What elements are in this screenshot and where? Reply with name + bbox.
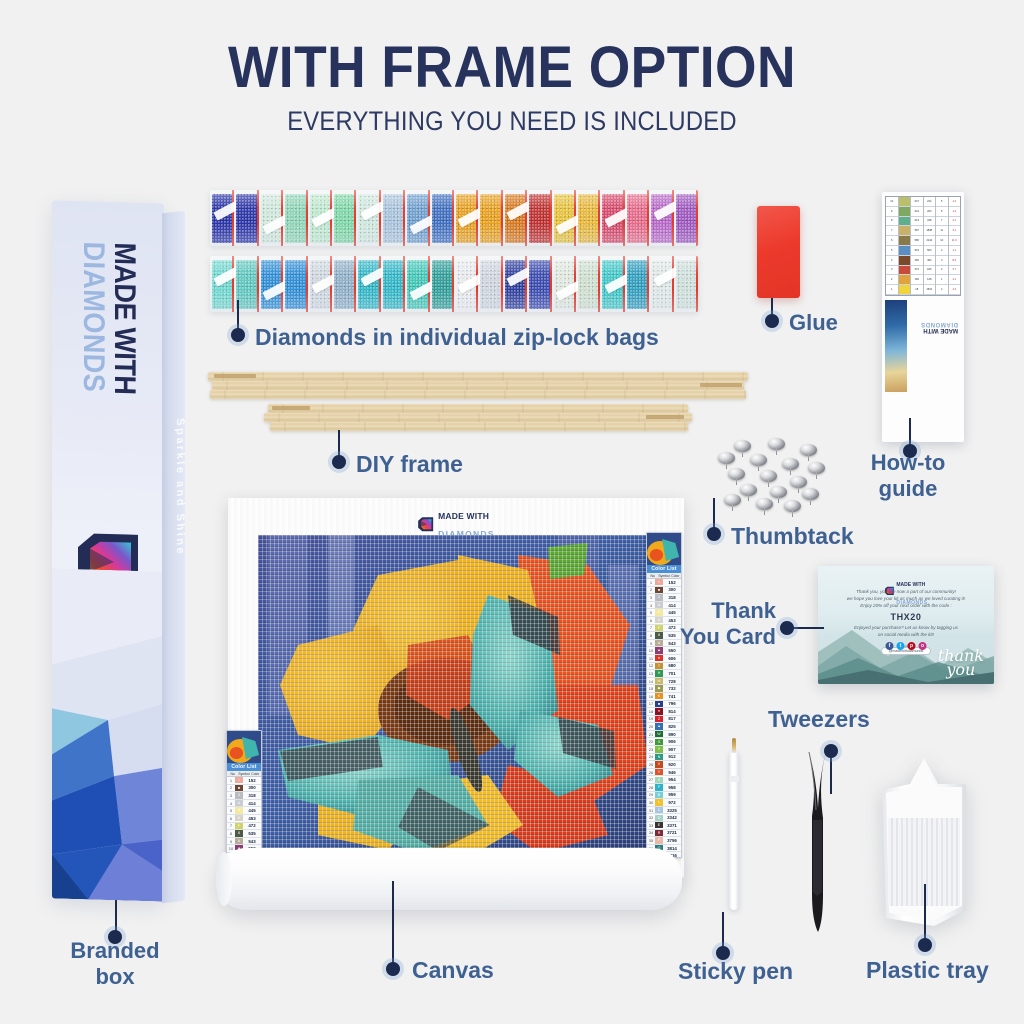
guide-color-table: 10987654321 6476446135875805194503721661… bbox=[885, 196, 961, 296]
color-row-swatch: ▲ bbox=[655, 647, 663, 653]
callout-diy-frame: DIY frame bbox=[356, 451, 463, 478]
color-row-code: 732 bbox=[663, 686, 681, 691]
color-row-code: 300 bbox=[663, 587, 681, 592]
bag-label bbox=[311, 273, 338, 293]
box-brand-line2: DIAMONDS bbox=[77, 241, 109, 530]
diamond-beads bbox=[456, 194, 476, 243]
color-row-swatch: C bbox=[655, 807, 663, 813]
color-row-code: 3342 bbox=[663, 815, 681, 820]
col-no: No bbox=[647, 573, 658, 578]
callout-glue: Glue bbox=[789, 310, 838, 336]
diamond-beads bbox=[407, 260, 427, 309]
color-row-swatch: A bbox=[235, 800, 243, 806]
color-row-index: 11 bbox=[647, 656, 655, 661]
color-row-code: 741 bbox=[663, 694, 681, 699]
color-row-index: 1 bbox=[647, 580, 655, 585]
ziplock-bag bbox=[527, 256, 551, 312]
color-row-code: 912 bbox=[663, 754, 681, 759]
color-row-index: 24 bbox=[647, 754, 655, 759]
color-row-swatch: R bbox=[655, 830, 663, 836]
color-row-swatch: I bbox=[655, 579, 663, 585]
diamond-beads bbox=[407, 194, 427, 243]
callout-branded-box: Branded box bbox=[55, 938, 175, 989]
callout-tweezers: Tweezers bbox=[768, 706, 870, 733]
diamond-beads bbox=[456, 260, 476, 309]
ziplock-bag bbox=[405, 256, 429, 312]
diamond-beads bbox=[310, 260, 330, 309]
guide-cover-photo bbox=[885, 300, 907, 392]
diamond-beads bbox=[358, 194, 378, 243]
diamond-beads bbox=[310, 194, 330, 243]
ziplock-bag bbox=[625, 256, 649, 312]
ziplock-bag bbox=[332, 256, 356, 312]
color-row-code: 680 bbox=[663, 663, 681, 668]
color-row-swatch: ● bbox=[655, 655, 663, 661]
ziplock-bag bbox=[430, 256, 454, 312]
bag-seal-strip bbox=[452, 256, 454, 312]
ziplock-bag bbox=[210, 256, 234, 312]
color-row-index: 15 bbox=[647, 686, 655, 691]
color-list-title-right: Color List bbox=[647, 565, 681, 573]
color-row-swatch: 8 bbox=[655, 632, 663, 638]
instagram-icon[interactable]: o bbox=[919, 642, 927, 650]
color-row-code: 814 bbox=[663, 709, 681, 714]
diamond-beads bbox=[432, 260, 452, 309]
bag-seal-strip bbox=[672, 190, 674, 246]
diamond-beads bbox=[236, 260, 256, 309]
color-row-index: 12 bbox=[647, 663, 655, 668]
color-row-code: 3721 bbox=[663, 830, 681, 835]
color-row-index: 19 bbox=[647, 716, 655, 721]
canvas-artwork bbox=[258, 535, 654, 856]
diamond-beads bbox=[578, 194, 598, 243]
infographic-canvas: WITH FRAME OPTION EVERYTHING YOU NEED IS… bbox=[0, 0, 1024, 1024]
bag-seal-strip bbox=[623, 256, 625, 312]
tweezers-product bbox=[795, 744, 841, 934]
thumbtack-product bbox=[712, 438, 832, 516]
ziplock-bag bbox=[674, 256, 698, 312]
diamond-beads bbox=[602, 194, 622, 243]
color-list-row: 31C3325 bbox=[647, 807, 681, 815]
lead-line-canvas bbox=[392, 881, 394, 963]
color-row-code: 535 bbox=[243, 831, 261, 836]
color-row-swatch: F bbox=[655, 784, 663, 790]
bag-label bbox=[653, 266, 680, 286]
diamond-beads bbox=[554, 260, 574, 309]
bag-seal-strip bbox=[232, 190, 234, 246]
facebook-icon[interactable]: f bbox=[886, 642, 894, 650]
color-list-row: 1I152 bbox=[227, 777, 261, 785]
color-row-index: 32 bbox=[647, 815, 655, 820]
color-row-index: 2 bbox=[227, 785, 235, 790]
color-row-index: 5 bbox=[647, 610, 655, 615]
callout-dot-diy-frame bbox=[332, 455, 346, 469]
diamond-beads bbox=[285, 260, 305, 309]
diamond-beads bbox=[212, 194, 232, 243]
color-list-row: 20▲825 bbox=[647, 723, 681, 731]
bag-seal-strip bbox=[550, 256, 552, 312]
bag-label bbox=[409, 214, 436, 234]
ziplock-bag bbox=[503, 256, 527, 312]
diamond-beads bbox=[529, 260, 549, 309]
color-row-swatch: F bbox=[235, 823, 243, 829]
color-row-swatch: F bbox=[655, 625, 663, 631]
bag-seal-strip bbox=[379, 256, 381, 312]
color-row-index: 26 bbox=[647, 770, 655, 775]
color-list-row: 35P3756 bbox=[647, 837, 681, 845]
ziplock-bag bbox=[234, 190, 258, 246]
bag-seal-strip bbox=[354, 256, 356, 312]
color-row-swatch: 3 bbox=[655, 594, 663, 600]
color-row-index: 1 bbox=[227, 778, 235, 783]
diamond-beads bbox=[212, 260, 232, 309]
bag-seal-strip bbox=[696, 256, 698, 312]
col-symbol-left: Symbol bbox=[238, 771, 249, 776]
diamond-beads bbox=[334, 260, 354, 309]
ziplock-bag bbox=[576, 190, 600, 246]
thank-you-card-product: MADE WITH DIAMONDS Thank you, you are no… bbox=[818, 566, 994, 684]
bag-seal-strip bbox=[598, 190, 600, 246]
callout-howto-guide: How-to guide bbox=[858, 450, 958, 501]
bag-label bbox=[360, 266, 387, 286]
color-row-code: 920 bbox=[663, 762, 681, 767]
card-line-5: on social media with the kit! bbox=[828, 631, 984, 638]
color-row-index: 21 bbox=[647, 732, 655, 737]
color-row-code: 3371 bbox=[663, 823, 681, 828]
color-list-row: 13H701 bbox=[647, 670, 681, 678]
color-row-code: 959 bbox=[663, 792, 681, 797]
glue-product bbox=[757, 206, 800, 298]
bag-seal-strip bbox=[452, 190, 454, 246]
color-row-swatch: ■ bbox=[655, 701, 663, 707]
ziplock-bag-row-top bbox=[210, 190, 698, 246]
twitter-icon[interactable]: t bbox=[897, 642, 905, 650]
color-row-swatch: T bbox=[655, 663, 663, 669]
callout-zip-bags: Diamonds in individual zip-lock bags bbox=[255, 324, 659, 351]
color-list-row: 1I152 bbox=[647, 579, 681, 587]
color-row-code: 796 bbox=[663, 701, 681, 706]
color-list-row: 2■300 bbox=[227, 785, 261, 793]
color-row-code: 318 bbox=[243, 793, 261, 798]
color-row-code: 445 bbox=[243, 808, 261, 813]
bag-seal-strip bbox=[232, 256, 234, 312]
pinterest-icon[interactable]: p bbox=[908, 642, 916, 650]
lead-line-branded-box bbox=[115, 900, 117, 934]
ziplock-bag bbox=[600, 190, 624, 246]
ziplock-bag bbox=[283, 256, 307, 312]
color-list-row: 33E3371 bbox=[647, 822, 681, 830]
callout-thumbtack: Thumbtack bbox=[731, 523, 854, 550]
bag-seal-strip bbox=[281, 256, 283, 312]
diamond-beads bbox=[505, 194, 525, 243]
color-list-row: 19Z817 bbox=[647, 716, 681, 724]
box-brand-line1: MADE WITH bbox=[109, 242, 139, 531]
lead-line-thumbtack bbox=[713, 498, 715, 530]
ziplock-bag bbox=[356, 190, 380, 246]
color-row-index: 8 bbox=[647, 633, 655, 638]
color-row-index: 8 bbox=[227, 831, 235, 836]
ziplock-bag bbox=[674, 190, 698, 246]
color-list-right: Color List No Symbol Color 1I1522■300333… bbox=[646, 532, 682, 858]
diamond-beads bbox=[285, 194, 305, 243]
col-color-left: Color bbox=[250, 771, 261, 776]
bag-seal-strip bbox=[257, 190, 259, 246]
bag-seal-strip bbox=[330, 256, 332, 312]
ziplock-bag bbox=[381, 256, 405, 312]
lead-line-diy-frame bbox=[338, 430, 340, 458]
bag-seal-strip bbox=[647, 256, 649, 312]
ziplock-bag bbox=[283, 190, 307, 246]
bag-seal-strip bbox=[574, 190, 576, 246]
diamond-beads bbox=[554, 194, 574, 243]
color-row-index: 3 bbox=[647, 595, 655, 600]
color-row-swatch: P bbox=[655, 837, 663, 843]
diy-frame-product bbox=[208, 372, 748, 450]
color-row-swatch: ■ bbox=[235, 785, 243, 791]
color-list-row: 17■796 bbox=[647, 701, 681, 709]
ziplock-bag bbox=[649, 190, 673, 246]
color-row-swatch: Y bbox=[655, 769, 663, 775]
bag-label bbox=[555, 280, 582, 300]
color-row-index: 18 bbox=[647, 709, 655, 714]
color-row-index: 5 bbox=[227, 808, 235, 813]
bag-seal-strip bbox=[306, 190, 308, 246]
color-row-index: 34 bbox=[647, 830, 655, 835]
color-row-index: 3 bbox=[227, 793, 235, 798]
bag-seal-strip bbox=[623, 190, 625, 246]
howto-guide-product: 10987654321 6476446135875805194503721661… bbox=[882, 192, 964, 442]
bag-label bbox=[311, 207, 338, 227]
color-list-row: 26Y946 bbox=[647, 769, 681, 777]
color-list-row: 28F958 bbox=[647, 784, 681, 792]
ziplock-bag bbox=[454, 256, 478, 312]
color-row-swatch: ■ bbox=[655, 587, 663, 593]
callout-plastic-tray: Plastic tray bbox=[866, 957, 989, 984]
card-line-3: Enjoy 20% off your next order with the c… bbox=[828, 602, 984, 609]
color-row-code: 3756 bbox=[663, 838, 681, 843]
bag-label bbox=[409, 280, 436, 300]
diamond-beads bbox=[505, 260, 525, 309]
ziplock-bag bbox=[478, 256, 502, 312]
bag-label bbox=[604, 273, 631, 293]
color-row-code: 954 bbox=[663, 777, 681, 782]
diamond-beads bbox=[480, 194, 500, 243]
guide-logo-line1: MADE WITH bbox=[912, 327, 958, 333]
color-list-rows-left: 1I1522■300333184A4145S445664537F47288535… bbox=[227, 777, 261, 853]
color-row-swatch: A bbox=[655, 640, 663, 646]
diamond-beads bbox=[358, 260, 378, 309]
color-list-row: 7F472 bbox=[227, 823, 261, 831]
page-title: WITH FRAME OPTION bbox=[41, 34, 983, 101]
color-list-row: 9A543 bbox=[227, 838, 261, 846]
ziplock-bag bbox=[332, 190, 356, 246]
color-row-index: 14 bbox=[647, 679, 655, 684]
bag-seal-strip bbox=[525, 190, 527, 246]
ziplock-bag bbox=[430, 190, 454, 246]
color-row-swatch: S bbox=[655, 777, 663, 783]
box-tagline: Sparkle and Shine bbox=[174, 406, 186, 567]
color-row-swatch: X bbox=[655, 761, 663, 767]
color-row-code: 906 bbox=[663, 739, 681, 744]
ziplock-bag bbox=[356, 256, 380, 312]
color-row-index: 17 bbox=[647, 701, 655, 706]
card-script-line2: you bbox=[946, 660, 975, 679]
color-row-swatch: 8 bbox=[235, 830, 243, 836]
color-row-index: 33 bbox=[647, 823, 655, 828]
callout-sticky-pen: Sticky pen bbox=[678, 958, 793, 985]
color-row-code: 3814 bbox=[663, 846, 681, 851]
ziplock-bag bbox=[503, 190, 527, 246]
bag-seal-strip bbox=[403, 256, 405, 312]
callout-canvas: Canvas bbox=[412, 957, 494, 984]
card-thank-you-script: thank you bbox=[938, 649, 984, 678]
bag-label bbox=[458, 207, 485, 227]
diamond-beads bbox=[651, 194, 671, 243]
color-row-swatch: W bbox=[655, 731, 663, 737]
color-row-index: 13 bbox=[647, 671, 655, 676]
bag-label bbox=[507, 200, 534, 220]
bag-seal-strip bbox=[598, 256, 600, 312]
page-subtitle: EVERYTHING YOU NEED IS INCLUDED bbox=[61, 106, 962, 137]
color-row-swatch: A bbox=[235, 838, 243, 844]
color-row-code: 472 bbox=[243, 823, 261, 828]
color-list-row: 11●606 bbox=[647, 655, 681, 663]
box-front-face: MADE WITH DIAMONDS bbox=[52, 200, 164, 901]
bag-seal-strip bbox=[672, 256, 674, 312]
bag-label bbox=[360, 200, 387, 220]
color-row-code: 414 bbox=[243, 801, 261, 806]
color-row-code: 3325 bbox=[663, 808, 681, 813]
bag-seal-strip bbox=[428, 190, 430, 246]
color-list-row: 32D3342 bbox=[647, 814, 681, 822]
color-row-swatch: 6 bbox=[655, 617, 663, 623]
col-color: Color bbox=[670, 573, 681, 578]
ziplock-bag bbox=[576, 256, 600, 312]
bag-seal-strip bbox=[501, 256, 503, 312]
color-list-row: 22G906 bbox=[647, 738, 681, 746]
diamond-beads bbox=[383, 260, 403, 309]
card-discount-code: THX20 bbox=[828, 612, 984, 622]
color-row-swatch: B bbox=[655, 792, 663, 798]
color-row-swatch: 3 bbox=[235, 792, 243, 798]
color-row-index: 10 bbox=[647, 648, 655, 653]
color-row-swatch: 6 bbox=[235, 815, 243, 821]
diamond-beads bbox=[578, 260, 598, 309]
bag-seal-strip bbox=[696, 190, 698, 246]
card-social-icons: f t p o bbox=[886, 642, 927, 650]
bag-seal-strip bbox=[476, 190, 478, 246]
bag-seal-strip bbox=[525, 256, 527, 312]
color-row-swatch: ● bbox=[655, 708, 663, 714]
diamond-beads bbox=[676, 194, 696, 243]
bag-label bbox=[653, 200, 680, 220]
color-row-index: 35 bbox=[647, 838, 655, 843]
color-row-index: 9 bbox=[227, 839, 235, 844]
color-list-row: 21W890 bbox=[647, 731, 681, 739]
card-line-1: Thank you, you are now a part of our com… bbox=[828, 588, 984, 595]
canvas-rolled-tube bbox=[216, 848, 682, 910]
canvas-logo-line1: MADE WITH bbox=[438, 511, 489, 521]
box-side-panel: Sparkle and Shine bbox=[162, 211, 185, 904]
bag-label bbox=[507, 266, 534, 286]
ziplock-bag bbox=[259, 256, 283, 312]
color-row-code: 453 bbox=[243, 816, 261, 821]
color-row-code: 825 bbox=[663, 724, 681, 729]
guide-brand-logo: MADE WITH DIAMONDS bbox=[912, 320, 958, 333]
color-row-swatch: M bbox=[655, 678, 663, 684]
color-row-swatch: ◆ bbox=[655, 685, 663, 691]
color-list-row: 4A414 bbox=[227, 800, 261, 808]
box-brand-block: MADE WITH DIAMONDS bbox=[52, 230, 164, 563]
color-row-index: 23 bbox=[647, 747, 655, 752]
color-row-index: 30 bbox=[647, 800, 655, 805]
diamond-beads bbox=[480, 260, 500, 309]
color-row-swatch: A bbox=[655, 602, 663, 608]
diamond-beads bbox=[383, 194, 403, 243]
color-row-swatch: K bbox=[655, 693, 663, 699]
bag-seal-strip bbox=[476, 256, 478, 312]
callout-dot-thumbtack bbox=[707, 527, 721, 541]
ziplock-bag bbox=[478, 190, 502, 246]
ziplock-bag bbox=[552, 190, 576, 246]
color-row-swatch: ▲ bbox=[655, 723, 663, 729]
color-row-index: 25 bbox=[647, 762, 655, 767]
diamond-beads bbox=[676, 260, 696, 309]
color-list-row: 27S954 bbox=[647, 776, 681, 784]
color-row-index: 4 bbox=[647, 603, 655, 608]
color-row-index: 2 bbox=[647, 587, 655, 592]
color-row-code: 972 bbox=[663, 800, 681, 805]
diamond-beads bbox=[261, 194, 281, 243]
canvas-diamond-logo-icon bbox=[417, 516, 434, 533]
color-row-code: 300 bbox=[243, 785, 261, 790]
color-row-swatch: N bbox=[655, 754, 663, 760]
ziplock-bag bbox=[625, 190, 649, 246]
ziplock-bag bbox=[600, 256, 624, 312]
color-list-row: 14M728 bbox=[647, 678, 681, 686]
callout-dot-tweezers bbox=[824, 744, 838, 758]
bag-seal-strip bbox=[403, 190, 405, 246]
color-list-row: 18●814 bbox=[647, 708, 681, 716]
lead-line-tweezers bbox=[830, 756, 832, 794]
color-row-index: 22 bbox=[647, 739, 655, 744]
color-row-swatch: S bbox=[235, 807, 243, 813]
guide-logo-line2: DIAMONDS bbox=[912, 320, 958, 327]
ziplock-bag bbox=[381, 190, 405, 246]
color-row-code: 958 bbox=[663, 785, 681, 790]
color-row-code: 946 bbox=[663, 770, 681, 775]
color-row-index: 29 bbox=[647, 792, 655, 797]
diamond-beads bbox=[432, 194, 452, 243]
bag-label bbox=[555, 214, 582, 234]
box-low-poly-pattern bbox=[52, 568, 164, 901]
bag-seal-strip bbox=[574, 256, 576, 312]
color-row-index: 16 bbox=[647, 694, 655, 699]
bag-label bbox=[604, 207, 631, 227]
bag-label bbox=[458, 273, 485, 293]
color-list-row: 5S445 bbox=[227, 807, 261, 815]
color-list-row: 24N912 bbox=[647, 754, 681, 762]
bag-label bbox=[263, 280, 290, 300]
color-row-code: 890 bbox=[663, 732, 681, 737]
bag-seal-strip bbox=[647, 190, 649, 246]
color-list-row: 23V907 bbox=[647, 746, 681, 754]
color-row-index: 6 bbox=[647, 618, 655, 623]
color-row-index: 20 bbox=[647, 724, 655, 729]
bag-seal-strip bbox=[330, 190, 332, 246]
ziplock-bag bbox=[308, 256, 332, 312]
color-row-index: 7 bbox=[227, 823, 235, 828]
